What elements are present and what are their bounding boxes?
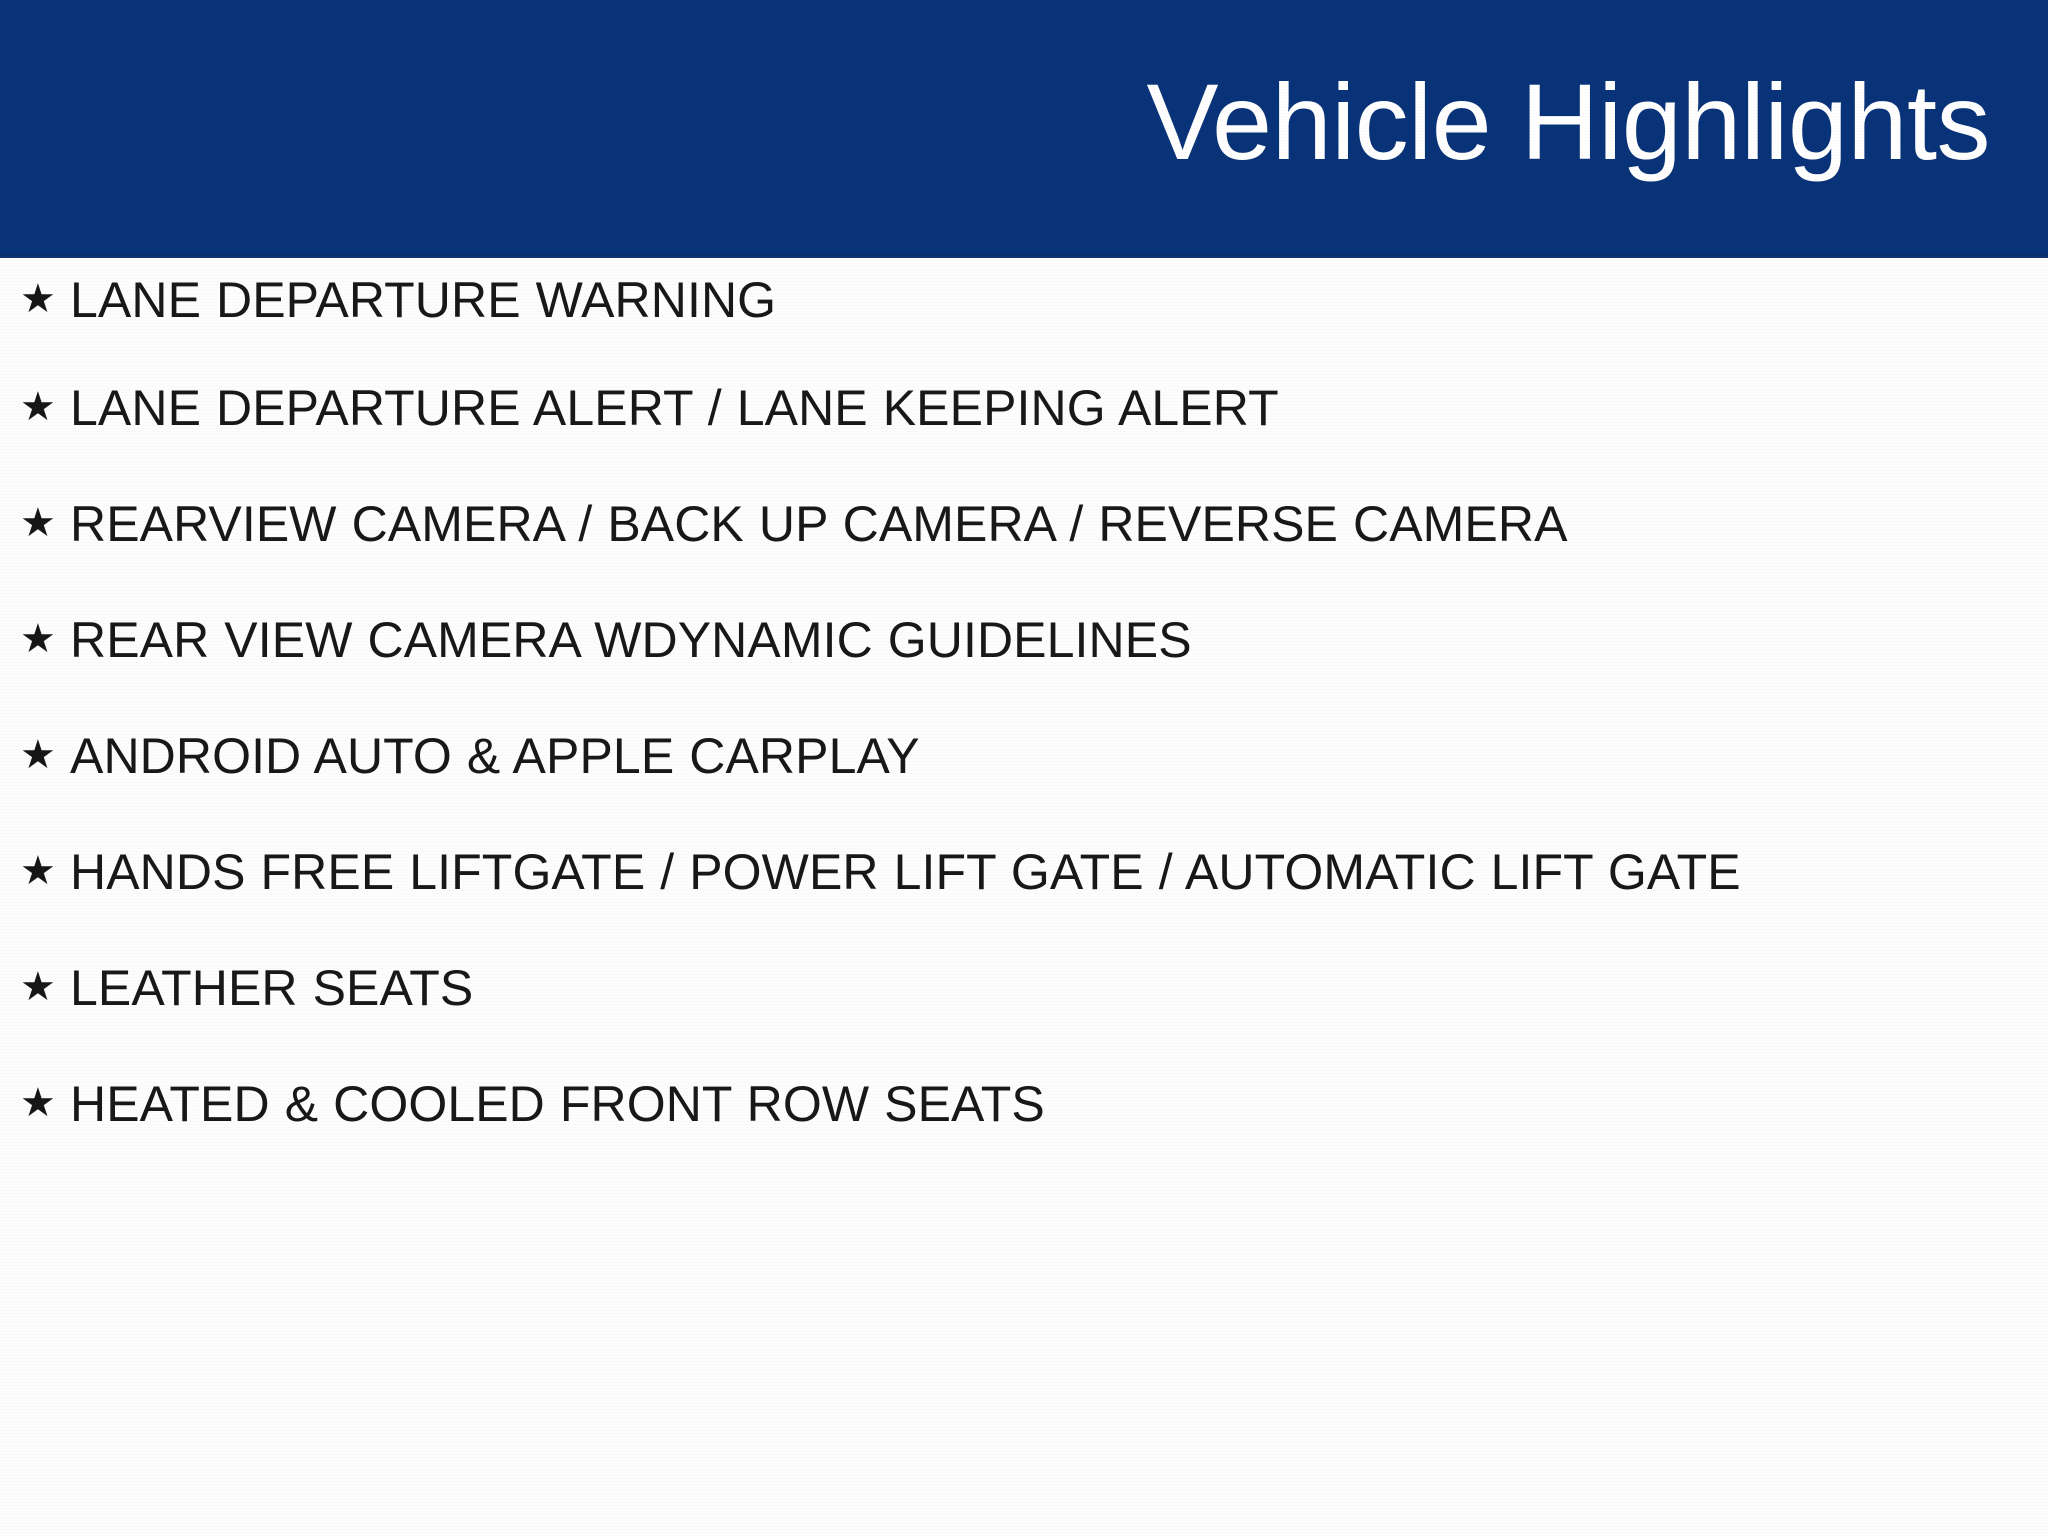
list-item: ★ HANDS FREE LIFTGATE / POWER LIFT GATE … (0, 838, 2048, 954)
list-item: ★ HEATED & COOLED FRONT ROW SEATS (0, 1070, 2048, 1186)
star-bullet-icon: ★ (18, 838, 70, 904)
star-bullet-icon: ★ (18, 490, 70, 556)
list-item: ★ LANE DEPARTURE ALERT / LANE KEEPING AL… (0, 374, 2048, 490)
highlight-label: HANDS FREE LIFTGATE / POWER LIFT GATE / … (70, 838, 1970, 906)
page-header: Vehicle Highlights (0, 0, 2048, 258)
star-bullet-icon: ★ (18, 606, 70, 672)
star-bullet-icon: ★ (18, 954, 70, 1020)
star-bullet-icon: ★ (18, 374, 70, 440)
list-item: ★ LEATHER SEATS (0, 954, 2048, 1070)
list-item: ★ REAR VIEW CAMERA WDYNAMIC GUIDELINES (0, 606, 2048, 722)
highlight-label: LEATHER SEATS (70, 954, 1970, 1022)
highlight-label: LANE DEPARTURE WARNING (70, 266, 1970, 334)
star-bullet-icon: ★ (18, 1070, 70, 1136)
star-bullet-icon: ★ (18, 722, 70, 788)
page-title: Vehicle Highlights (1146, 68, 1990, 176)
vehicle-highlights-page: Vehicle Highlights ★ LANE DEPARTURE WARN… (0, 0, 2048, 1536)
highlight-label: LANE DEPARTURE ALERT / LANE KEEPING ALER… (70, 374, 1970, 442)
highlight-label: ANDROID AUTO & APPLE CARPLAY (70, 722, 1970, 790)
highlight-label: HEATED & COOLED FRONT ROW SEATS (70, 1070, 1970, 1138)
vehicle-highlights-list: ★ LANE DEPARTURE WARNING ★ LANE DEPARTUR… (0, 258, 2048, 1186)
list-item: ★ REARVIEW CAMERA / BACK UP CAMERA / REV… (0, 490, 2048, 606)
highlight-label: REARVIEW CAMERA / BACK UP CAMERA / REVER… (70, 490, 1970, 558)
star-bullet-icon: ★ (18, 266, 70, 332)
list-item: ★ ANDROID AUTO & APPLE CARPLAY (0, 722, 2048, 838)
highlight-label: REAR VIEW CAMERA WDYNAMIC GUIDELINES (70, 606, 1970, 674)
list-item: ★ LANE DEPARTURE WARNING (0, 258, 2048, 374)
